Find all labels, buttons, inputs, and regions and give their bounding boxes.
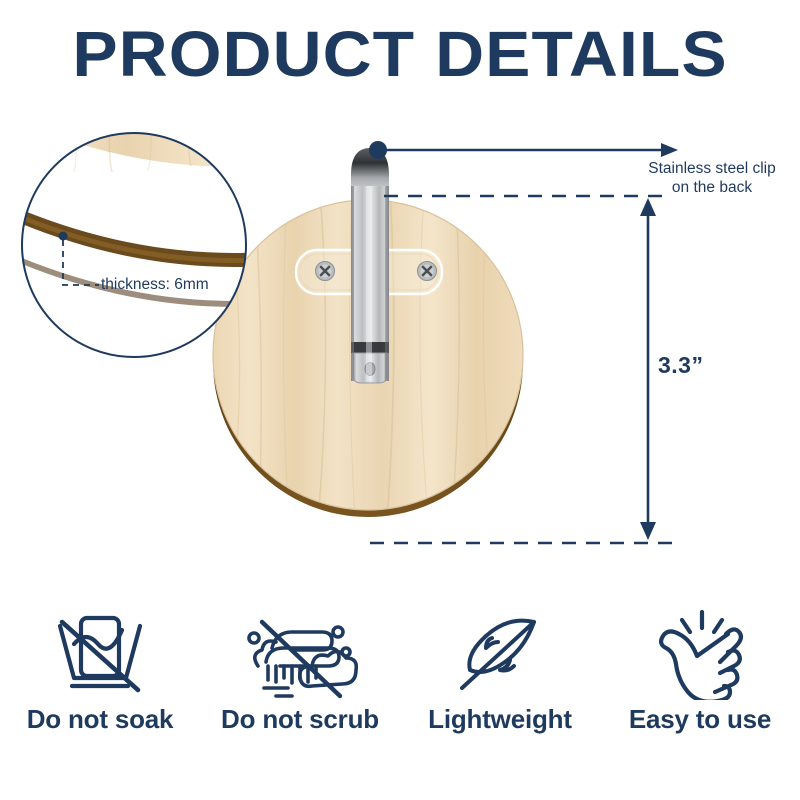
clip-callout-label: Stainless steel clip on the back (632, 160, 792, 198)
feature-label: Do not soak (27, 704, 174, 735)
clip-callout-arrow (369, 141, 678, 159)
feature-label: Lightweight (428, 704, 572, 735)
stainless-steel-clip (351, 148, 389, 383)
thickness-label: thickness: 6mm (101, 276, 209, 294)
feature-easy-to-use: Easy to use (600, 604, 800, 735)
screw-left (316, 262, 335, 281)
feature-do-not-soak: Do not soak (0, 604, 200, 735)
feature-do-not-scrub: Do not scrub (200, 604, 400, 735)
clip-callout-line1: Stainless steel clip (632, 160, 792, 179)
feature-label: Easy to use (629, 704, 771, 735)
dimension-value-label: 3.3” (658, 352, 703, 379)
infographic-canvas: PRODUCT DETAILS (0, 0, 800, 800)
thickness-anchor-dot (59, 232, 68, 241)
feature-row: Do not soak (0, 604, 800, 754)
no-scrub-icon (242, 604, 358, 700)
feature-label: Do not scrub (221, 704, 379, 735)
feather-icon (448, 604, 552, 700)
clip-callout-line2: on the back (632, 179, 792, 198)
screw-right (418, 262, 437, 281)
snap-hand-icon (648, 604, 752, 700)
feature-lightweight: Lightweight (400, 604, 600, 735)
callout-anchor-dot (369, 141, 387, 159)
no-soak-icon (48, 604, 152, 700)
